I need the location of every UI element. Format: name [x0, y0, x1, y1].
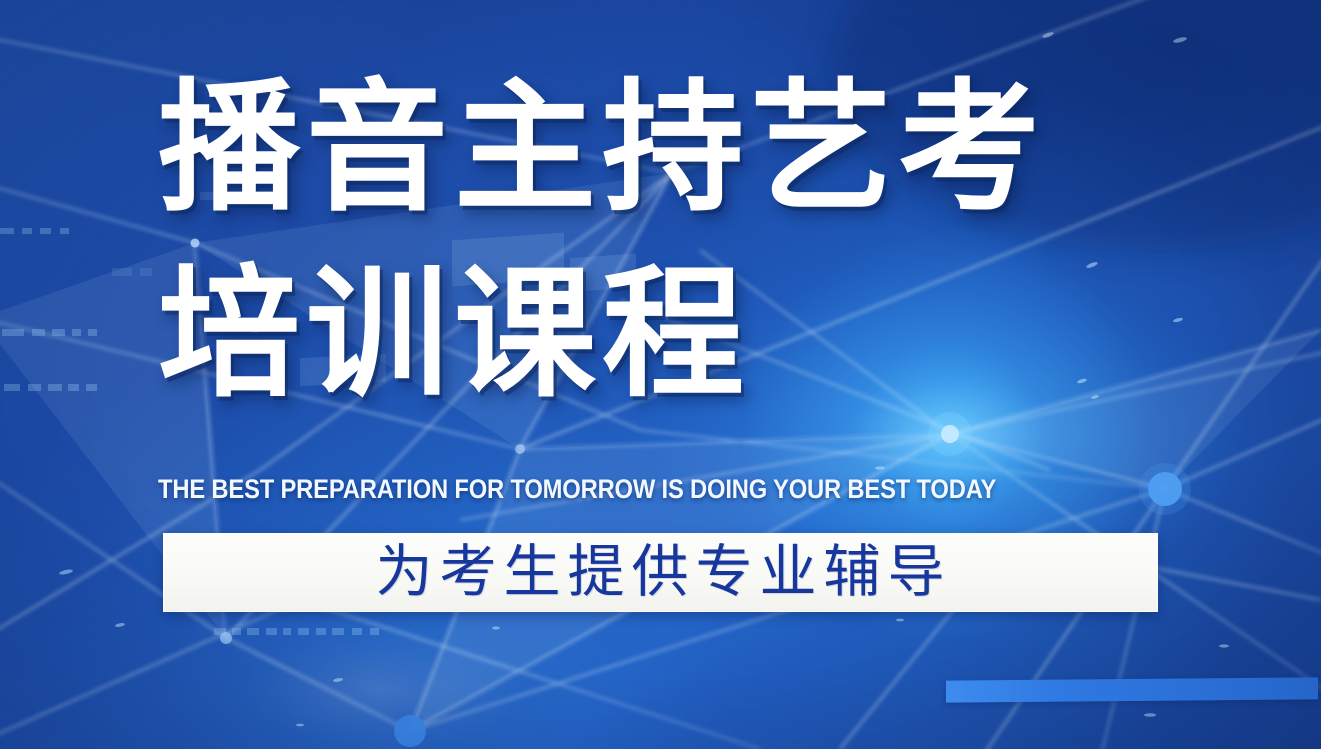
accent-bar [946, 677, 1318, 702]
title-line-1: 播音主持艺考 [158, 78, 1046, 220]
english-subtitle: THE BEST PREPARATION FOR TOMORROW IS DOI… [158, 474, 961, 505]
tagline-banner: 为考生提供专业辅导 [163, 533, 1158, 612]
title-line-2: 培训课程 [158, 264, 750, 406]
poster-canvas: 播音主持艺考 培训课程 THE BEST PREPARATION FOR TOM… [0, 0, 1321, 749]
tagline-banner-text: 为考生提供专业辅导 [370, 544, 952, 601]
